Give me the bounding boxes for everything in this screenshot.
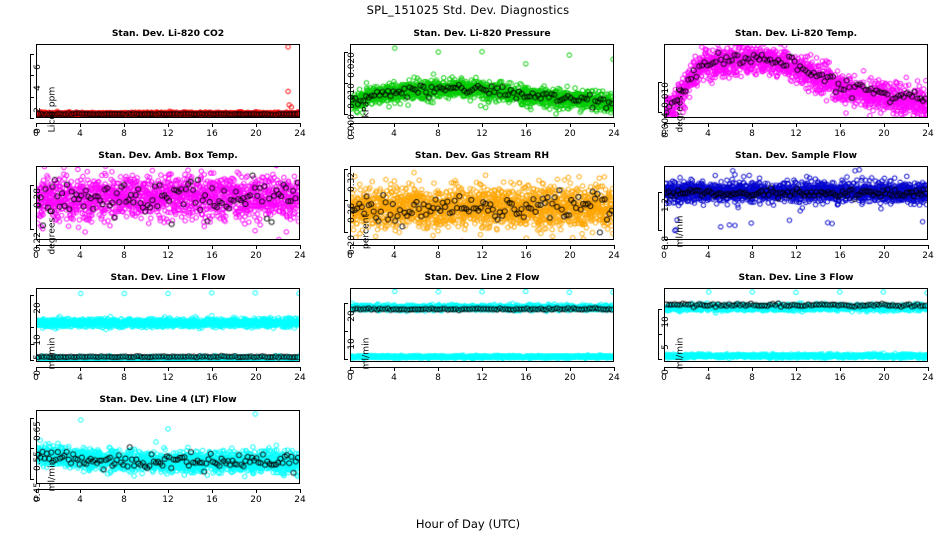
- y-tick-label-sample-flow-1: 1.2: [661, 190, 671, 220]
- x-tick-label-line1-flow-2: 8: [110, 373, 138, 383]
- y-axis-label-gas-stream-rh: percent: [361, 202, 372, 262]
- y-tick-label-li820-pressure-0: 0.000: [347, 112, 357, 142]
- x-tick-line2-flow-2: [438, 367, 439, 371]
- y-axis-label-line1-flow: ml/min: [47, 324, 58, 384]
- x-tick-label-line1-flow-4: 16: [198, 373, 226, 383]
- x-tick-label-gas-stream-rh-5: 20: [556, 251, 584, 261]
- panel-title-line1-flow: Stan. Dev. Line 1 Flow: [36, 272, 300, 283]
- y-axis-label-amb-box-temp: degrees C: [47, 202, 58, 262]
- x-tick-line3-flow-6: [928, 367, 929, 371]
- diagnostics-figure: SPL_151025 Std. Dev. Diagnostics Stan. D…: [0, 0, 936, 540]
- x-tick-line3-flow-2: [752, 367, 753, 371]
- x-tick-label-line4-lt-flow-2: 8: [110, 495, 138, 505]
- y-tick-label-line3-flow-2: 10: [661, 307, 671, 337]
- x-tick-label-li820-temp-4: 16: [826, 129, 854, 139]
- global-x-axis-label: Hour of Day (UTC): [0, 517, 936, 531]
- x-tick-line4-lt-flow-6: [300, 489, 301, 493]
- x-tick-li820-co2-2: [124, 123, 125, 127]
- y-axis-line-li820-co2: [30, 54, 31, 118]
- plot-area-li820-temp: [664, 44, 928, 118]
- y-tick-label-line4-lt-flow-2: 0.65: [33, 416, 43, 446]
- x-tick-label-line4-lt-flow-1: 4: [66, 495, 94, 505]
- x-tick-li820-temp-1: [708, 123, 709, 127]
- x-tick-amb-box-temp-6: [300, 245, 301, 249]
- x-tick-gas-stream-rh-3: [482, 245, 483, 249]
- panel-line3-flow: Stan. Dev. Line 3 Flow048121620240510ml/…: [628, 272, 936, 390]
- x-tick-line4-lt-flow-4: [212, 489, 213, 493]
- x-tick-line3-flow-1: [708, 367, 709, 371]
- x-tick-li820-pressure-3: [482, 123, 483, 127]
- panel-title-li820-co2: Stan. Dev. Li-820 CO2: [36, 28, 300, 39]
- x-tick-li820-pressure-2: [438, 123, 439, 127]
- y-tick-label-gas-stream-rh-1: 0.26: [347, 198, 357, 228]
- data-points-gas-stream-rh: [351, 167, 613, 239]
- plot-area-line2-flow: [350, 288, 614, 362]
- y-tick-label-line1-flow-3: 20: [33, 293, 43, 323]
- panel-li820-temp: Stan. Dev. Li-820 Temp.048121620240.0040…: [628, 28, 936, 146]
- x-tick-label-line1-flow-1: 4: [66, 373, 94, 383]
- x-tick-gas-stream-rh-2: [438, 245, 439, 249]
- x-tick-label-li820-co2-5: 20: [242, 129, 270, 139]
- y-axis-line-sample-flow: [658, 192, 659, 230]
- x-tick-amb-box-temp-5: [256, 245, 257, 249]
- data-points-amb-box-temp: [37, 167, 299, 239]
- x-tick-label-li820-temp-3: 12: [782, 129, 810, 139]
- data-points-line3-flow: [665, 289, 927, 361]
- panel-title-line2-flow: Stan. Dev. Line 2 Flow: [350, 272, 614, 283]
- x-tick-label-line4-lt-flow-3: 12: [154, 495, 182, 505]
- x-tick-li820-temp-4: [840, 123, 841, 127]
- x-tick-sample-flow-6: [928, 245, 929, 249]
- x-tick-label-li820-pressure-5: 20: [556, 129, 584, 139]
- x-tick-label-line4-lt-flow-4: 16: [198, 495, 226, 505]
- x-tick-line3-flow-3: [796, 367, 797, 371]
- x-tick-li820-pressure-4: [526, 123, 527, 127]
- x-tick-label-li820-pressure-2: 8: [424, 129, 452, 139]
- x-tick-li820-temp-5: [884, 123, 885, 127]
- panel-title-sample-flow: Stan. Dev. Sample Flow: [664, 150, 928, 161]
- x-tick-sample-flow-1: [708, 245, 709, 249]
- x-tick-gas-stream-rh-4: [526, 245, 527, 249]
- x-tick-sample-flow-2: [752, 245, 753, 249]
- y-tick-label-li820-co2-3: 6: [33, 52, 43, 82]
- panel-title-li820-pressure: Stan. Dev. Li-820 Pressure: [350, 28, 614, 39]
- data-points-li820-pressure: [351, 45, 613, 117]
- panel-line4-lt-flow: Stan. Dev. Line 4 (LT) Flow048121620240.…: [0, 394, 308, 512]
- panel-title-line3-flow: Stan. Dev. Line 3 Flow: [664, 272, 928, 283]
- panel-gas-stream-rh: Stan. Dev. Gas Stream RH048121620240.200…: [314, 150, 622, 268]
- x-tick-label-line3-flow-2: 8: [738, 373, 766, 383]
- x-tick-amb-box-temp-4: [212, 245, 213, 249]
- figure-title: SPL_151025 Std. Dev. Diagnostics: [0, 3, 936, 17]
- x-tick-label-li820-co2-1: 4: [66, 129, 94, 139]
- y-tick-label-line2-flow-0: 0: [347, 357, 357, 387]
- x-tick-label-line3-flow-3: 12: [782, 373, 810, 383]
- x-tick-gas-stream-rh-5: [570, 245, 571, 249]
- x-tick-sample-flow-5: [884, 245, 885, 249]
- x-tick-line2-flow-4: [526, 367, 527, 371]
- x-tick-line3-flow-4: [840, 367, 841, 371]
- plot-area-line3-flow: [664, 288, 928, 362]
- x-tick-line2-flow-5: [570, 367, 571, 371]
- panel-line1-flow: Stan. Dev. Line 1 Flow04812162024051020m…: [0, 272, 308, 390]
- x-tick-label-gas-stream-rh-1: 4: [380, 251, 408, 261]
- x-tick-label-gas-stream-rh-4: 16: [512, 251, 540, 261]
- x-tick-label-line3-flow-1: 4: [694, 373, 722, 383]
- x-tick-li820-pressure-5: [570, 123, 571, 127]
- y-tick-label-gas-stream-rh-0: 0.20: [347, 230, 357, 260]
- x-tick-label-gas-stream-rh-3: 12: [468, 251, 496, 261]
- x-tick-li820-temp-3: [796, 123, 797, 127]
- x-tick-line1-flow-6: [300, 367, 301, 371]
- x-tick-label-amb-box-temp-6: 24: [286, 251, 314, 261]
- data-points-line4-lt-flow: [37, 411, 299, 483]
- y-tick-label-amb-box-temp-1: 0.28: [33, 183, 43, 213]
- plot-area-amb-box-temp: [36, 166, 300, 240]
- data-points-line2-flow: [351, 289, 613, 361]
- y-tick-label-line1-flow-2: 10: [33, 325, 43, 355]
- x-tick-line1-flow-4: [212, 367, 213, 371]
- plot-area-line1-flow: [36, 288, 300, 362]
- x-tick-label-line2-flow-2: 8: [424, 373, 452, 383]
- x-tick-label-li820-temp-2: 8: [738, 129, 766, 139]
- y-axis-label-line3-flow: ml/min: [675, 324, 686, 384]
- x-tick-label-line2-flow-3: 12: [468, 373, 496, 383]
- x-tick-li820-pressure-1: [394, 123, 395, 127]
- y-axis-label-sample-flow: ml/min: [675, 202, 686, 262]
- x-tick-label-sample-flow-2: 8: [738, 251, 766, 261]
- plot-area-sample-flow: [664, 166, 928, 240]
- x-tick-label-li820-pressure-3: 12: [468, 129, 496, 139]
- x-tick-label-li820-co2-3: 12: [154, 129, 182, 139]
- x-tick-label-amb-box-temp-1: 4: [66, 251, 94, 261]
- y-axis-label-li820-pressure: kPa: [361, 80, 372, 140]
- x-tick-amb-box-temp-3: [168, 245, 169, 249]
- panel-li820-co2: Stan. Dev. Li-820 CO2048121620240246Lico…: [0, 28, 308, 146]
- x-tick-label-line2-flow-5: 20: [556, 373, 584, 383]
- x-tick-li820-co2-3: [168, 123, 169, 127]
- x-tick-label-amb-box-temp-3: 12: [154, 251, 182, 261]
- panel-title-amb-box-temp: Stan. Dev. Amb. Box Temp.: [36, 150, 300, 161]
- x-tick-label-sample-flow-3: 12: [782, 251, 810, 261]
- x-tick-li820-co2-4: [212, 123, 213, 127]
- panel-li820-pressure: Stan. Dev. Li-820 Pressure048121620240.0…: [314, 28, 622, 146]
- y-tick-label-line4-lt-flow-0: 0.45: [33, 477, 43, 507]
- y-tick-label-li820-pressure-2: 0.020: [347, 50, 357, 80]
- x-tick-label-li820-pressure-1: 4: [380, 129, 408, 139]
- panel-title-gas-stream-rh: Stan. Dev. Gas Stream RH: [350, 150, 614, 161]
- x-tick-label-line2-flow-1: 4: [380, 373, 408, 383]
- x-tick-label-li820-pressure-4: 16: [512, 129, 540, 139]
- x-tick-label-li820-co2-4: 16: [198, 129, 226, 139]
- x-tick-label-line2-flow-6: 24: [600, 373, 628, 383]
- x-tick-line2-flow-6: [614, 367, 615, 371]
- x-tick-amb-box-temp-2: [124, 245, 125, 249]
- y-axis-label-line2-flow: ml/min: [361, 324, 372, 384]
- x-tick-label-li820-co2-2: 8: [110, 129, 138, 139]
- y-tick-label-li820-temp-0: 0.004: [661, 110, 671, 140]
- data-points-li820-co2: [37, 45, 299, 117]
- y-tick-label-line2-flow-2: 20: [347, 301, 357, 331]
- x-tick-line4-lt-flow-1: [80, 489, 81, 493]
- x-tick-li820-co2-1: [80, 123, 81, 127]
- x-tick-line3-flow-5: [884, 367, 885, 371]
- x-tick-label-amb-box-temp-2: 8: [110, 251, 138, 261]
- panel-title-line4-lt-flow: Stan. Dev. Line 4 (LT) Flow: [36, 394, 300, 405]
- panel-amb-box-temp: Stan. Dev. Amb. Box Temp.048121620240.22…: [0, 150, 308, 268]
- plot-area-li820-co2: [36, 44, 300, 118]
- x-tick-line2-flow-1: [394, 367, 395, 371]
- x-tick-label-gas-stream-rh-6: 24: [600, 251, 628, 261]
- x-tick-line4-lt-flow-5: [256, 489, 257, 493]
- data-points-sample-flow: [665, 167, 927, 239]
- x-tick-label-amb-box-temp-4: 16: [198, 251, 226, 261]
- x-tick-label-line4-lt-flow-5: 20: [242, 495, 270, 505]
- x-tick-label-line1-flow-5: 20: [242, 373, 270, 383]
- x-tick-li820-temp-2: [752, 123, 753, 127]
- x-tick-label-sample-flow-4: 16: [826, 251, 854, 261]
- x-tick-line2-flow-3: [482, 367, 483, 371]
- x-tick-line4-lt-flow-2: [124, 489, 125, 493]
- y-tick-label-li820-temp-1: 0.010: [661, 80, 671, 110]
- panel-line2-flow: Stan. Dev. Line 2 Flow0481216202401020ml…: [314, 272, 622, 390]
- x-tick-amb-box-temp-1: [80, 245, 81, 249]
- data-points-li820-temp: [665, 45, 927, 117]
- x-tick-gas-stream-rh-6: [614, 245, 615, 249]
- x-tick-line1-flow-5: [256, 367, 257, 371]
- plot-area-line4-lt-flow: [36, 410, 300, 484]
- x-tick-label-li820-temp-5: 20: [870, 129, 898, 139]
- y-axis-label-line4-lt-flow: ml/min: [47, 446, 58, 506]
- x-tick-label-line3-flow-4: 16: [826, 373, 854, 383]
- y-tick-label-line2-flow-1: 10: [347, 329, 357, 359]
- x-tick-label-sample-flow-6: 24: [914, 251, 936, 261]
- x-tick-li820-co2-6: [300, 123, 301, 127]
- x-tick-line1-flow-2: [124, 367, 125, 371]
- x-tick-li820-temp-6: [928, 123, 929, 127]
- y-axis-line-li820-temp: [658, 82, 659, 112]
- y-tick-label-amb-box-temp-0: 0.22: [33, 227, 43, 257]
- plot-area-gas-stream-rh: [350, 166, 614, 240]
- plot-area-li820-pressure: [350, 44, 614, 118]
- x-tick-label-line1-flow-3: 12: [154, 373, 182, 383]
- x-tick-li820-co2-5: [256, 123, 257, 127]
- x-tick-label-li820-pressure-6: 24: [600, 129, 628, 139]
- y-axis-label-li820-co2: Licor ppm: [47, 80, 58, 140]
- x-tick-label-line3-flow-6: 24: [914, 373, 936, 383]
- panel-title-li820-temp: Stan. Dev. Li-820 Temp.: [664, 28, 928, 39]
- y-tick-label-sample-flow-0: 0.8: [661, 228, 671, 258]
- x-tick-line1-flow-1: [80, 367, 81, 371]
- x-tick-label-li820-co2-6: 24: [286, 129, 314, 139]
- x-tick-label-li820-temp-1: 4: [694, 129, 722, 139]
- x-tick-label-line3-flow-5: 20: [870, 373, 898, 383]
- x-tick-label-gas-stream-rh-2: 8: [424, 251, 452, 261]
- y-tick-label-gas-stream-rh-2: 0.32: [347, 167, 357, 197]
- x-tick-label-line2-flow-4: 16: [512, 373, 540, 383]
- x-tick-label-amb-box-temp-5: 20: [242, 251, 270, 261]
- x-tick-label-sample-flow-5: 20: [870, 251, 898, 261]
- x-tick-line1-flow-3: [168, 367, 169, 371]
- x-tick-line4-lt-flow-3: [168, 489, 169, 493]
- x-tick-label-line4-lt-flow-6: 24: [286, 495, 314, 505]
- x-tick-li820-pressure-6: [614, 123, 615, 127]
- x-tick-sample-flow-3: [796, 245, 797, 249]
- x-tick-sample-flow-4: [840, 245, 841, 249]
- x-tick-label-sample-flow-1: 4: [694, 251, 722, 261]
- x-tick-label-line1-flow-6: 24: [286, 373, 314, 383]
- y-axis-line-amb-box-temp: [30, 185, 31, 229]
- y-axis-label-li820-temp: degrees C: [675, 80, 686, 140]
- panel-sample-flow: Stan. Dev. Sample Flow048121620240.81.2m…: [628, 150, 936, 268]
- data-points-line1-flow: [37, 289, 299, 361]
- x-tick-label-li820-temp-6: 24: [914, 129, 936, 139]
- x-tick-gas-stream-rh-1: [394, 245, 395, 249]
- y-tick-label-li820-pressure-1: 0.010: [347, 81, 357, 111]
- y-tick-label-line4-lt-flow-1: 0.55: [33, 446, 43, 476]
